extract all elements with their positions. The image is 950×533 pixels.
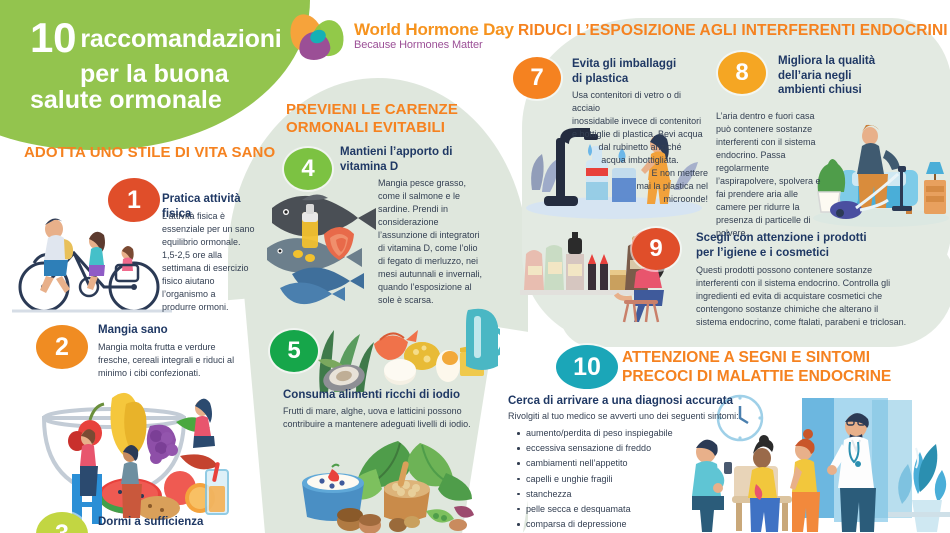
section-heading-signs: ATTENZIONE A SEGNI E SINTOMI PRECOCI DI … [622,348,891,387]
badge-3: 3 [36,512,88,533]
section-heading-prevent: PREVIENI LE CARENZE ORMONALI EVITABILI [286,101,458,138]
card-8-body: L’aria dentro e fuori casa può contenere… [716,110,824,240]
card-5-body: Frutti di mare, alghe, uova e latticini … [283,405,491,431]
logo-tagline: Because Hormones Matter [354,39,514,51]
card-10-subline: Rivolgiti al tuo medico se avverti uno d… [508,411,739,421]
yogurt-and-nuts-bowl-illustration [288,425,488,533]
card-2-body: Mangia molta frutta e verdure fresche, c… [98,341,238,380]
card-7-title: Evita gli imballaggidi plastica [572,57,712,86]
man-vacuuming-living-room-illustration [812,118,950,228]
card-7-body: Usa contenitori di vetro o di acciaio in… [572,89,708,206]
bowl-of-fruit-and-vegetables-illustration [30,378,240,528]
card-1-body: L’attività fisica èessenziale per un san… [162,210,264,314]
card-9-body: Questi prodotti possono contenere sostan… [696,264,908,329]
badge-1: 1 [108,178,160,222]
signs-line-1: ATTENZIONE A SEGNI E SINTOMI [622,348,891,367]
section-heading-reduce: RIDUCI L’ESPOSIZIONE AGLI INTERFERENTI E… [518,22,948,41]
card-5-title: Consuma alimenti ricchi di iodio [283,388,503,403]
three-eggs-icon [290,12,346,60]
card-2-title: Mangia sano [98,323,248,338]
card-10-subhead: Cerca di arrivare a una diagnosi accurat… [508,395,733,407]
section-heading-lifestyle: ADOTTA UNO STILE DI VITA SANO [24,144,275,162]
seafood-seaweed-eggs-dairy-illustration [300,300,500,392]
signs-line-2: PRECOCI DI MALATTIE ENDOCRINE [622,367,891,386]
family-on-tandem-bicycle-illustration [12,205,172,315]
badge-10: 10 [556,345,618,389]
list-item: aumento/perdita di peso inspiegabile [526,427,696,441]
world-hormone-day-logo[interactable]: World Hormone Day Because Hormones Matte… [290,12,514,60]
badge-2: 2 [36,325,88,369]
list-item: comparsa di depressione [526,518,696,532]
list-item: pelle secca e desquamata [526,503,696,517]
card-1: 1 Pratica attività fisica L’attività fis… [0,0,260,160]
list-item: eccessiva sensazione di freddo [526,442,696,456]
card-4-body: Mangia pesce grasso, come il salmone e l… [378,177,483,307]
list-item: stanchezza [526,488,696,502]
card-9-title: Scegli con attenzione i prodottiper l’ig… [696,231,936,260]
badge-5: 5 [270,330,318,372]
card-3-title: Dormi a sufficienza [98,515,268,530]
list-item: cambiamenti nell’appetito [526,457,696,471]
badge-4: 4 [284,148,332,190]
symptom-list: aumento/perdita di peso inspiegabile ecc… [514,427,696,533]
section-heading-prevent-line1: PREVIENI LE CARENZE [286,101,458,119]
badge-7: 7 [513,57,561,99]
list-item: capelli e unghie fragili [526,473,696,487]
card-8-title: Migliora la qualitàdell’aria negliambien… [778,54,898,98]
infographic-canvas: 10raccomandazioni per la buona salute or… [0,0,950,533]
logo-title: World Hormone Day [354,21,514,40]
oily-fish-and-cod-liver-oil-illustration [262,178,387,308]
badge-8: 8 [718,52,766,94]
card-4-title: Mantieni l’apporto divitamina D [340,145,460,174]
section-heading-prevent-line2: ORMONALI EVITABILI [286,119,458,137]
badge-9: 9 [632,228,680,270]
